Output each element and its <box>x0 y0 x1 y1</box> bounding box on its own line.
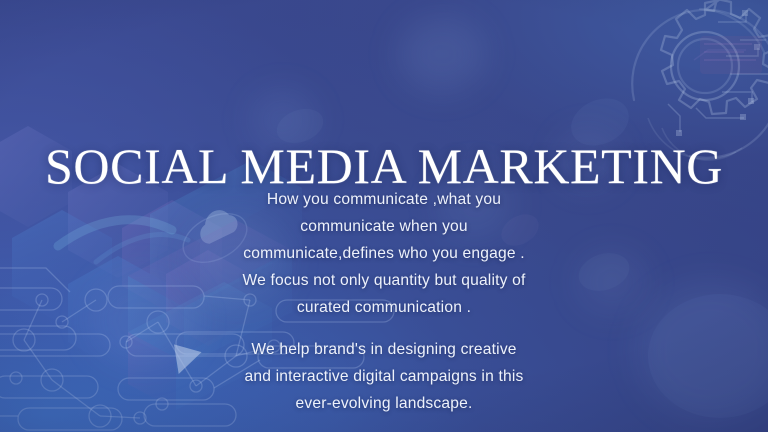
paragraph-line: How you communicate ,what you <box>0 186 768 213</box>
paragraph-line: and interactive digital campaigns in thi… <box>0 363 768 390</box>
paragraph-line: communicate when you <box>0 213 768 240</box>
paragraph-line: We focus not only quantity but quality o… <box>0 267 768 294</box>
paragraph-line: communicate,defines who you engage . <box>0 240 768 267</box>
paragraph-line: We help brand's in designing creative <box>0 336 768 363</box>
paragraph-line: curated communication . <box>0 294 768 321</box>
paragraph-line: ever-evolving landscape. <box>0 390 768 417</box>
slide-content: SOCIAL MEDIA MARKETING How you communica… <box>0 0 768 432</box>
services-paragraph: We help brand's in designing creative an… <box>0 336 768 417</box>
slide-canvas: SOCIAL MEDIA MARKETING How you communica… <box>0 0 768 432</box>
page-title: SOCIAL MEDIA MARKETING <box>0 141 768 191</box>
intro-paragraph: How you communicate ,what you communicat… <box>0 186 768 321</box>
